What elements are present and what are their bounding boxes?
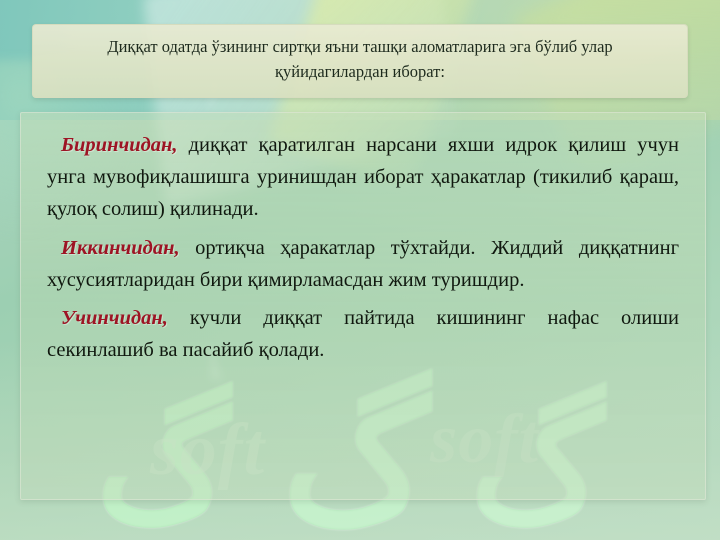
paragraph-lead-label: Учинчидан,: [61, 307, 168, 329]
page-title-line-1: Диққат одатда ўзининг сиртқи яъни ташқи …: [57, 35, 663, 60]
slide-content-box: Биринчидан, диққат қаратилган нарсани ях…: [20, 112, 706, 500]
body-paragraph: Биринчидан, диққат қаратилган нарсани ях…: [47, 129, 679, 226]
slide-title-box: Диққат одатда ўзининг сиртқи яъни ташқи …: [32, 24, 688, 98]
slide-canvas: گ گ گ soft soft Диққат одатда ўзининг си…: [0, 0, 720, 540]
paragraph-lead-label: Биринчидан,: [61, 134, 178, 156]
page-title-line-2: қуйидагилардан иборат:: [57, 60, 663, 85]
body-paragraph: Учинчидан, кучли диққат пайтида кишининг…: [47, 302, 679, 366]
body-paragraph: Иккинчидан, ортиқча ҳаракатлар тўхтайди.…: [47, 232, 679, 296]
paragraph-lead-label: Иккинчидан,: [61, 237, 180, 259]
